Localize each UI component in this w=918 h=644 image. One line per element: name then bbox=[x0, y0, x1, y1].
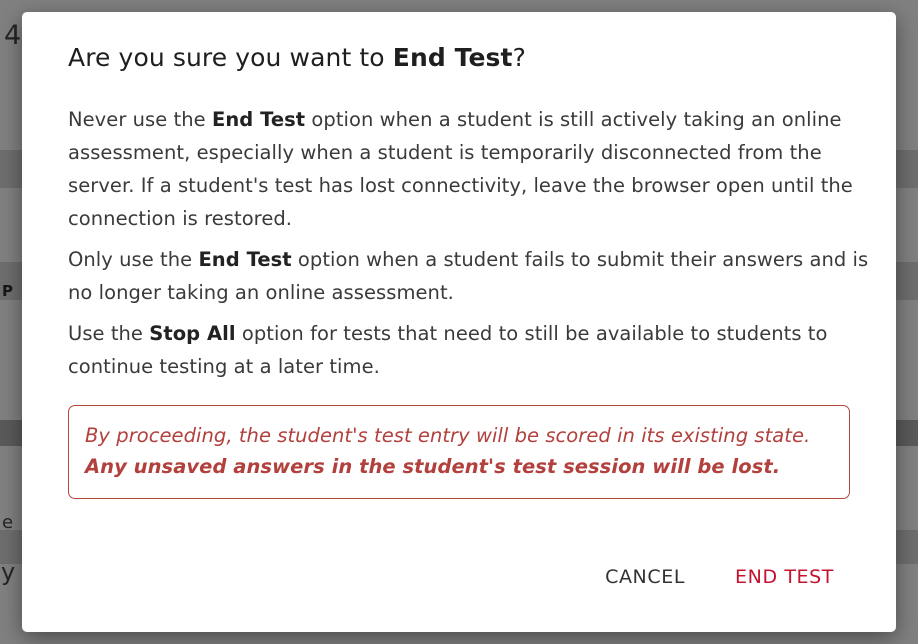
warning-line-emphasis: Any unsaved answers in the student's tes… bbox=[85, 451, 833, 482]
end-test-confirmation-dialog: Are you sure you want to End Test? Never… bbox=[22, 12, 896, 632]
dialog-paragraph-3: Use the Stop All option for tests that n… bbox=[68, 317, 870, 383]
paragraph-emphasis: Stop All bbox=[149, 322, 235, 345]
paragraph-text: Never use the bbox=[68, 108, 212, 131]
dialog-action-bar: CANCEL END TEST bbox=[48, 560, 870, 632]
backdrop-text-fragment-number: 4 bbox=[4, 20, 21, 51]
backdrop-text-fragment-p: P bbox=[2, 282, 13, 300]
dialog-title-prefix: Are you sure you want to bbox=[68, 43, 393, 72]
warning-line-primary: By proceeding, the student's test entry … bbox=[85, 420, 833, 451]
backdrop-text-fragment-e: e bbox=[2, 512, 13, 533]
dialog-title-emphasis: End Test bbox=[393, 43, 513, 72]
dialog-paragraph-2: Only use the End Test option when a stud… bbox=[68, 243, 870, 309]
end-test-button[interactable]: END TEST bbox=[727, 560, 842, 594]
dialog-title: Are you sure you want to End Test? bbox=[48, 42, 870, 73]
dialog-paragraph-1: Never use the End Test option when a stu… bbox=[68, 103, 870, 235]
warning-callout-box: By proceeding, the student's test entry … bbox=[68, 405, 850, 499]
paragraph-text: Use the bbox=[68, 322, 149, 345]
backdrop-text-fragment-y: y bbox=[1, 558, 15, 586]
cancel-button[interactable]: CANCEL bbox=[597, 560, 693, 594]
dialog-body: Never use the End Test option when a stu… bbox=[48, 103, 870, 391]
paragraph-emphasis: End Test bbox=[212, 108, 305, 131]
dialog-title-suffix: ? bbox=[513, 43, 526, 72]
paragraph-emphasis: End Test bbox=[198, 248, 291, 271]
paragraph-text: Only use the bbox=[68, 248, 198, 271]
